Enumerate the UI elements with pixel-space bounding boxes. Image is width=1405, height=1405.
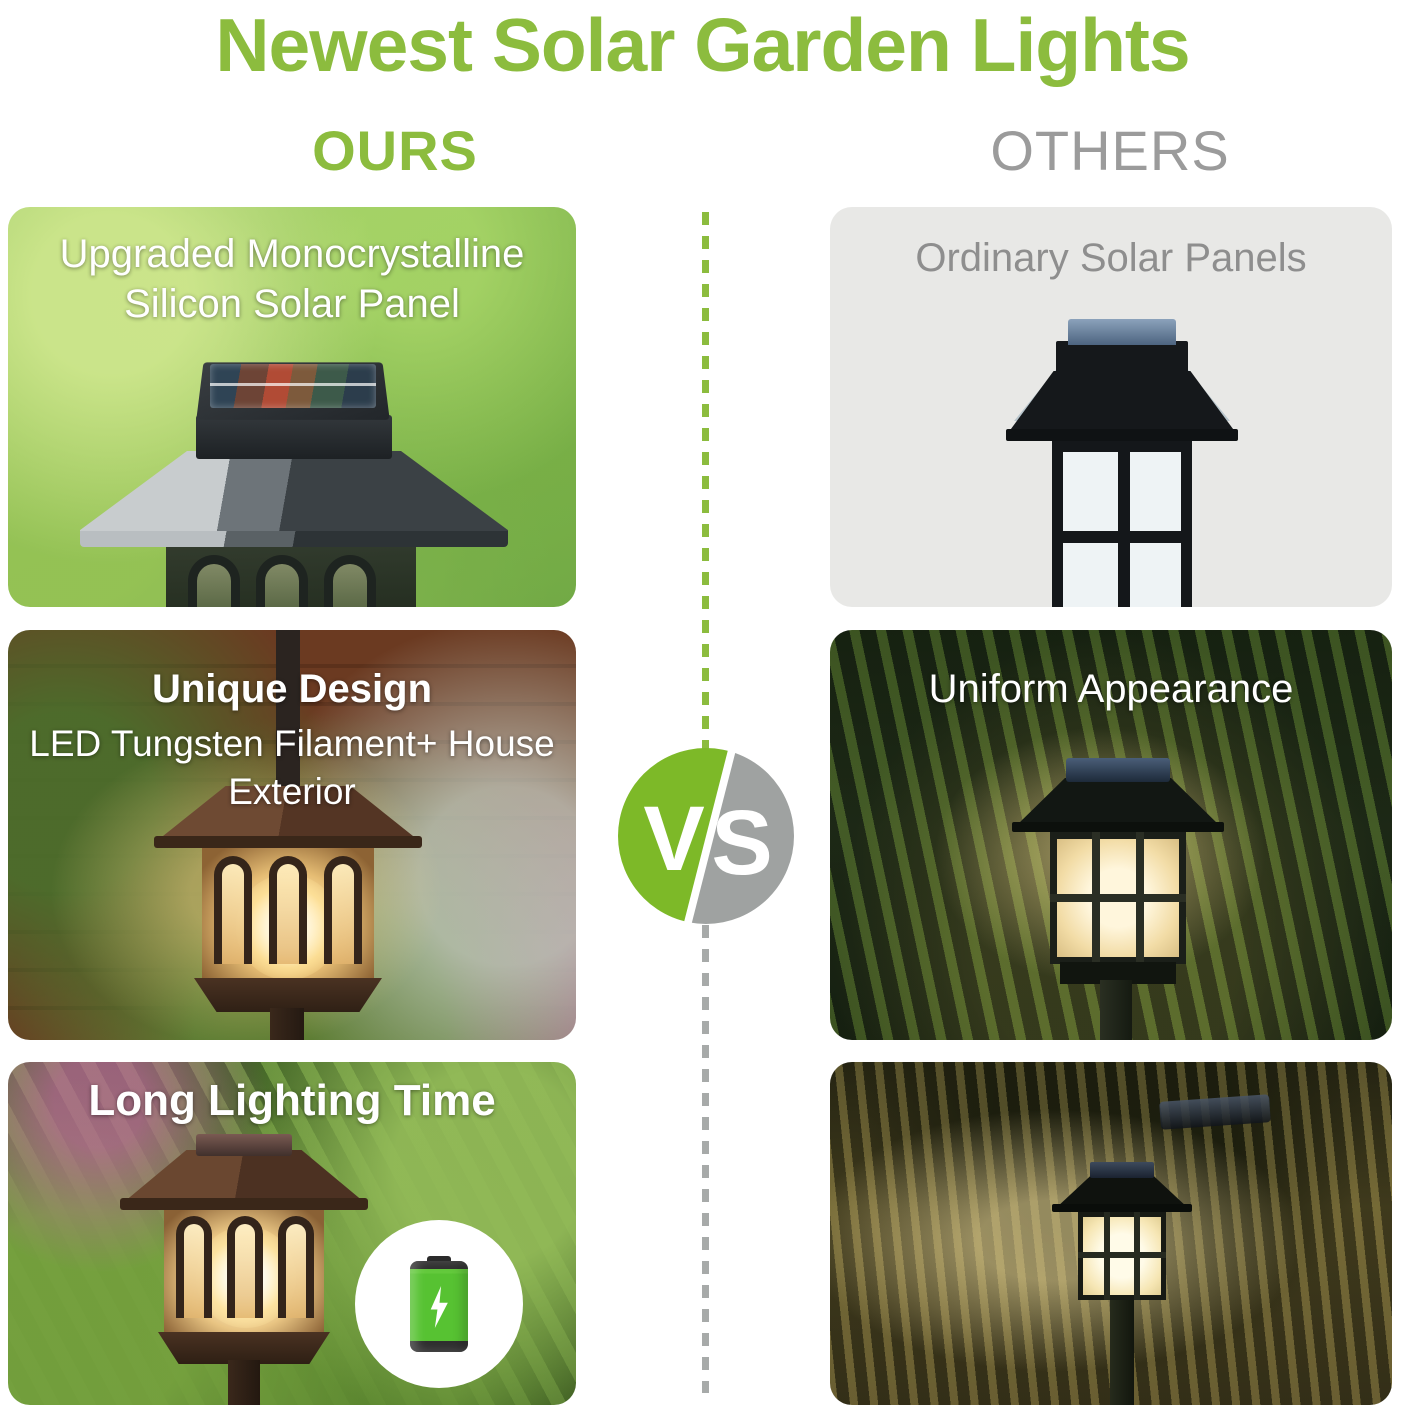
product-image-ordinary-lantern	[970, 319, 1270, 607]
lamp-roof-edge	[80, 531, 508, 547]
lamp-arch-window-right	[278, 1216, 314, 1318]
lamp-arch-right	[324, 555, 376, 607]
panel-ours-unique-design: Unique Design LED Tungsten Filament+ Hou…	[8, 630, 576, 1040]
ordinary-solar-cell	[1066, 758, 1170, 782]
lamp-roof	[124, 1150, 364, 1202]
lamp-arch-window-center	[227, 1216, 263, 1318]
lamp-post	[1100, 980, 1132, 1040]
panel-caption-line2: LED Tungsten Filament+ House Exterior	[8, 720, 576, 816]
panel-others-lawn-night	[830, 1062, 1392, 1405]
lamp-cap	[1056, 341, 1188, 375]
lamp-roof	[80, 451, 508, 543]
panel-caption-line1: Upgraded Monocrystalline	[8, 229, 576, 279]
panel-others-solar-panel: Ordinary Solar Panels	[830, 207, 1392, 607]
column-label-ours: OURS	[95, 118, 695, 183]
lamp-arch-window-left	[176, 1216, 212, 1318]
panel-caption-line1: Ordinary Solar Panels	[830, 233, 1392, 283]
lamp-arch-center	[256, 555, 308, 607]
lamp-post	[270, 1008, 304, 1040]
product-image-uniform-lantern	[1008, 758, 1228, 1028]
lamp-arch-window-center	[269, 856, 307, 964]
lamp-mullion-horizontal	[1052, 531, 1192, 543]
lamp-post	[1110, 1300, 1134, 1405]
monocrystalline-solar-cell	[210, 364, 376, 408]
lamp-arch-window-right	[324, 856, 362, 964]
lamp-roof-lip	[154, 836, 422, 848]
lamp-base	[194, 978, 382, 1012]
lamp-roof	[1008, 371, 1236, 433]
column-label-others: OTHERS	[770, 118, 1405, 183]
lamp-roof-lip	[1006, 429, 1238, 441]
lamp-roof-lip	[1052, 1204, 1192, 1212]
lamp-post	[228, 1360, 260, 1405]
lamp-arch-window-left	[214, 856, 252, 964]
panel-caption-line1: Uniform Appearance	[830, 664, 1392, 714]
panel-caption-line1: Unique Design	[8, 664, 576, 714]
solar-cell	[1090, 1162, 1154, 1178]
product-image-upgraded-solar-cap	[58, 359, 528, 607]
vs-letter-v: V	[643, 788, 704, 890]
solar-cell	[196, 1134, 292, 1156]
divider-dashed-top	[702, 212, 709, 752]
panel-ours-long-lighting-time: Long Lighting Time	[8, 1062, 576, 1405]
divider-dashed-bottom	[702, 925, 709, 1393]
product-image-lawn-lantern	[1052, 1162, 1192, 1402]
lamp-arch-left	[188, 555, 240, 607]
vs-badge: V S	[612, 742, 800, 930]
page-title: Newest Solar Garden Lights	[0, 2, 1405, 88]
lamp-mullion-vertical	[1118, 441, 1130, 607]
battery-badge	[355, 1220, 523, 1388]
lamp-roof-lip	[120, 1198, 368, 1210]
solar-cell-busbar	[210, 383, 376, 386]
battery-charging-icon	[410, 1256, 468, 1352]
lamp-mullion-h	[1078, 1252, 1166, 1258]
panel-caption-line1: Long Lighting Time	[8, 1076, 576, 1126]
product-image-long-runtime-lantern	[124, 1134, 364, 1404]
lamp-roof-lip	[1012, 822, 1224, 832]
panel-ours-solar-panel: Upgraded Monocrystalline Silicon Solar P…	[8, 207, 576, 607]
lamp-mullion-h	[1050, 894, 1186, 902]
ordinary-solar-cell	[1068, 319, 1176, 345]
product-image-distant-lantern	[1159, 1094, 1271, 1130]
vs-letter-s: S	[711, 792, 772, 894]
panel-caption-line2: Silicon Solar Panel	[8, 279, 576, 329]
panel-others-uniform-appearance: Uniform Appearance	[830, 630, 1392, 1040]
lamp-roof	[1016, 778, 1220, 826]
lamp-collar	[196, 415, 392, 459]
